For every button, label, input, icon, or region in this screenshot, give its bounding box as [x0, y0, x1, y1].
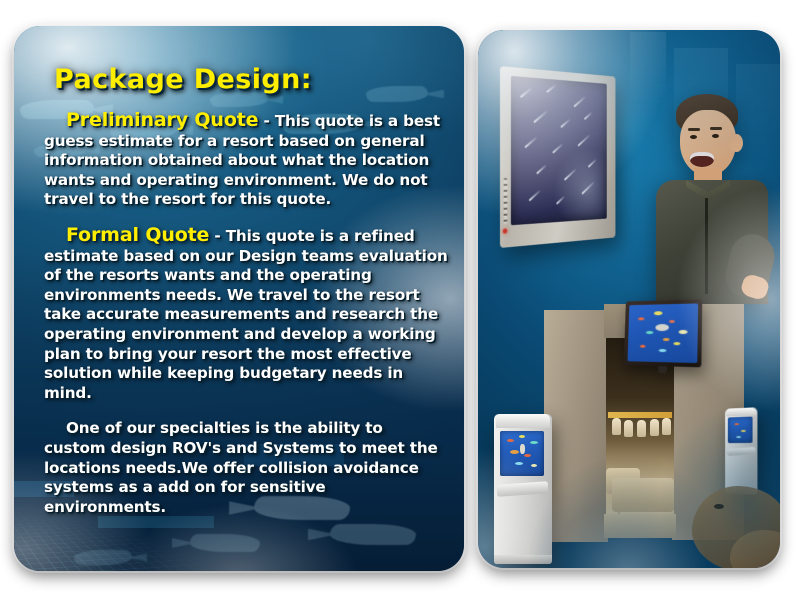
lead-preliminary-quote: Preliminary Quote [66, 109, 258, 131]
body-specialties: One of our specialties is the ability to… [44, 419, 438, 515]
bar-stool [637, 420, 646, 437]
paragraph-preliminary-quote: Preliminary Quote - This quote is a best… [44, 111, 448, 210]
kiosk-touchscreen[interactable] [500, 431, 544, 476]
eyebrow [688, 128, 700, 131]
rock-crevice [714, 504, 724, 509]
paragraph-specialties: One of our specialties is the ability to… [44, 419, 448, 517]
slide-stage: Package Design: Preliminary Quote - This… [0, 0, 800, 600]
kiosk-base [494, 555, 552, 564]
tv-screen-underwater-footage [511, 76, 607, 225]
kiosk-touchscreen[interactable] [728, 417, 753, 443]
wall-mounted-plasma-display [500, 66, 615, 248]
interactive-kiosk-right[interactable] [725, 407, 757, 495]
ceiling-mounted-display [624, 299, 703, 367]
eyebrow [710, 127, 722, 130]
photo-panel [478, 30, 780, 568]
bar-stool [624, 420, 633, 437]
page-title: Package Design: [54, 64, 448, 95]
lounge-sofa [612, 478, 674, 512]
stone-wall-left [544, 310, 608, 542]
kiosk-top-panel [496, 414, 549, 428]
bar-stool [650, 419, 659, 436]
kiosk-top-panel [726, 407, 756, 416]
eye [712, 134, 719, 138]
bar-stool [662, 418, 671, 435]
smiling-man [650, 94, 770, 304]
shirt-placket [705, 198, 708, 294]
display-wall-mount [658, 366, 667, 373]
fish-silhouette [190, 534, 260, 552]
bar-stool [612, 418, 621, 435]
paragraph-formal-quote: Formal Quote - This quote is a refined e… [44, 226, 448, 403]
tv-control-strip [504, 178, 508, 224]
display-screen-aquarium [628, 303, 699, 363]
ear [730, 134, 743, 152]
body-formal-quote: - This quote is a refined estimate based… [44, 227, 448, 402]
open-smile-mouth [690, 152, 714, 167]
text-panel: Package Design: Preliminary Quote - This… [14, 26, 464, 571]
lead-formal-quote: Formal Quote [66, 224, 209, 246]
interactive-kiosk-left[interactable] [494, 414, 552, 564]
eye [690, 135, 697, 139]
slide-copy: Package Design: Preliminary Quote - This… [44, 64, 448, 533]
fish-silhouette [74, 550, 132, 565]
kiosk-keyboard-shelf[interactable] [727, 446, 755, 455]
lobby-floor [604, 514, 676, 538]
face [680, 110, 736, 176]
